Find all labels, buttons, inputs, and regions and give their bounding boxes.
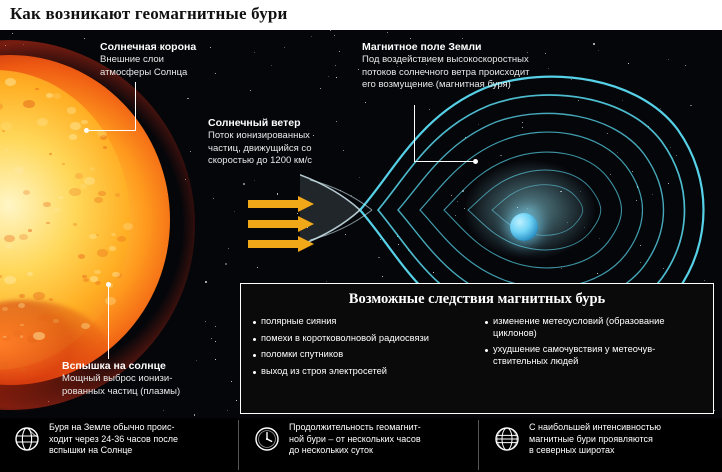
consequence-item-text: полярные сияния xyxy=(261,316,336,328)
sun-speck xyxy=(27,272,33,276)
sun-speck xyxy=(73,223,77,226)
star xyxy=(339,51,340,52)
bullet-dot-icon xyxy=(253,338,256,341)
star xyxy=(714,410,715,411)
sun-speck xyxy=(53,319,59,323)
sun-speck xyxy=(67,107,76,114)
star xyxy=(213,198,214,199)
sun-speck xyxy=(66,329,75,335)
solar-wind-arrows xyxy=(248,196,324,268)
bottom-fact-3: С наибольшей интенсивностьюмагнитные бур… xyxy=(492,422,714,459)
star xyxy=(215,326,216,327)
star xyxy=(205,281,207,283)
sun-speck xyxy=(19,234,28,240)
star xyxy=(334,35,335,36)
sun-speck xyxy=(39,314,50,322)
star xyxy=(215,341,216,342)
star xyxy=(271,65,272,66)
callout-solar-wind-heading: Солнечный ветер xyxy=(208,117,368,130)
callout-corona: Солнечная корона Внешние слоиатмосферы С… xyxy=(100,41,250,79)
sun-speck xyxy=(70,122,81,130)
consequence-item-text: поломки спутников xyxy=(261,349,343,361)
sun-speck xyxy=(69,134,77,140)
globe-storm-icon xyxy=(12,424,42,459)
consequence-item: ухудшение самочувствия у метеочув-ствите… xyxy=(485,344,705,367)
sun-speck xyxy=(59,196,63,199)
sun-speck xyxy=(2,307,8,311)
star xyxy=(387,32,388,33)
star xyxy=(225,263,227,265)
star xyxy=(254,180,255,181)
sun-speck xyxy=(37,118,48,126)
leader-dot-flare xyxy=(106,282,111,287)
bullet-dot-icon xyxy=(253,354,256,357)
callout-flare-heading: Вспышка на солнце xyxy=(62,360,237,373)
leader-line-magnetic-horizontal xyxy=(414,161,476,162)
consequence-item: изменение метеоусловий (образование цикл… xyxy=(485,316,705,339)
consequences-panel-title: Возможные следствия магнитных бурь xyxy=(241,291,713,308)
bottom-fact-1-text: Буря на Земле обычно проис-ходит через 2… xyxy=(49,422,178,459)
consequence-item-text: помехи в коротковолновой радиосвязи xyxy=(261,333,429,345)
consequences-right-column: изменение метеоусловий (образование цикл… xyxy=(485,316,705,382)
callout-solar-wind-body: Поток ионизированныхчастиц, движущийся с… xyxy=(208,130,368,168)
sun-speck xyxy=(19,367,26,372)
sun-speck xyxy=(66,340,70,342)
star xyxy=(410,38,411,39)
bottom-fact-1: Буря на Земле обычно проис-ходит через 2… xyxy=(12,422,228,459)
bottom-divider-1 xyxy=(238,420,239,470)
star xyxy=(84,38,85,39)
consequence-item: полярные сияния xyxy=(253,316,473,328)
sun-speck xyxy=(90,276,97,281)
bottom-fact-2: Продолжительность геомагнит-ной бури – о… xyxy=(252,422,468,459)
consequence-item: поломки спутников xyxy=(253,349,473,361)
consequence-item: помехи в коротковолновой радиосвязи xyxy=(253,333,473,345)
star xyxy=(234,211,235,212)
clock-icon xyxy=(252,424,282,459)
leader-line-flare-vertical xyxy=(108,285,109,359)
star xyxy=(311,36,312,37)
bottom-fact-3-text: С наибольшей интенсивностьюмагнитные бур… xyxy=(529,422,661,459)
consequence-item: выход из строя электросетей xyxy=(253,366,473,378)
star xyxy=(598,50,599,51)
sun-speck xyxy=(90,167,95,171)
consequence-item-text: ухудшение самочувствия у метеочув-ствите… xyxy=(493,344,705,367)
star xyxy=(250,90,251,91)
sun-speck xyxy=(2,362,8,367)
sun-speck xyxy=(28,229,32,232)
bullet-dot-icon xyxy=(253,321,256,324)
star xyxy=(243,183,245,185)
star xyxy=(211,338,212,339)
earth-icon xyxy=(510,213,538,241)
star xyxy=(462,38,463,39)
callout-magnetic-field-heading: Магнитное поле Земли xyxy=(362,41,582,54)
bottom-divider-2 xyxy=(478,420,479,470)
star xyxy=(163,410,164,411)
callout-flare: Вспышка на солнце Мощный выброс ионизи-р… xyxy=(62,360,237,398)
page-title: Как возникают геомагнитные бури xyxy=(10,4,288,24)
bullet-dot-icon xyxy=(253,371,256,374)
sun-speck xyxy=(84,177,94,184)
bullet-dot-icon xyxy=(485,321,488,324)
sun-speck xyxy=(75,173,83,179)
infographic-canvas: Как возникают геомагнитные бури Солнечна… xyxy=(0,0,722,472)
star xyxy=(277,193,279,195)
star xyxy=(254,52,255,53)
sun-speck xyxy=(13,330,23,337)
title-bar: Как возникают геомагнитные бури xyxy=(0,0,722,30)
callout-magnetic-field-body: Под воздействием высокоскоростныхпотоков… xyxy=(362,54,582,92)
star xyxy=(284,47,285,48)
globe-icon xyxy=(492,424,522,459)
consequence-item-text: изменение метеоусловий (образование цикл… xyxy=(493,316,705,339)
callout-magnetic-field: Магнитное поле Земли Под воздействием вы… xyxy=(362,41,582,92)
star xyxy=(205,321,206,322)
consequences-left-column: полярные сиянияпомехи в коротковолновой … xyxy=(253,316,473,382)
callout-flare-body: Мощный выброс ионизи-рованных частиц (пл… xyxy=(62,373,237,398)
sun-speck xyxy=(33,332,45,340)
star xyxy=(194,414,196,416)
consequence-item-text: выход из строя электросетей xyxy=(261,366,387,378)
star xyxy=(228,248,229,249)
sun-speck xyxy=(46,93,53,98)
sun-speck xyxy=(69,188,80,196)
callout-solar-wind: Солнечный ветер Поток ионизированныхчаст… xyxy=(208,117,368,168)
star xyxy=(593,43,595,45)
sun-speck xyxy=(103,146,107,149)
leader-dot-corona xyxy=(84,128,89,133)
sun-speck xyxy=(62,163,65,165)
bullet-dot-icon xyxy=(485,349,488,352)
sun-speck xyxy=(14,167,25,174)
star xyxy=(236,400,237,401)
star xyxy=(227,410,228,411)
sun-speck xyxy=(23,100,35,108)
leader-line-corona-vertical xyxy=(135,82,136,130)
leader-dot-magnetic xyxy=(473,159,478,164)
star xyxy=(187,98,188,99)
leader-line-corona-horizontal xyxy=(88,130,136,131)
callout-corona-heading: Солнечная корона xyxy=(100,41,250,54)
sun-speck xyxy=(33,292,44,300)
star xyxy=(190,151,191,152)
star xyxy=(12,33,13,34)
consequences-panel: Возможные следствия магнитных бурь поляр… xyxy=(240,283,714,414)
sun-speck xyxy=(1,122,12,130)
leader-line-magnetic-vertical xyxy=(414,105,415,162)
sun-speck xyxy=(53,93,61,99)
star xyxy=(330,30,331,31)
callout-corona-body: Внешние слоиатмосферы Солнца xyxy=(100,54,250,79)
bottom-fact-2-text: Продолжительность геомагнит-ной бури – о… xyxy=(289,422,421,459)
